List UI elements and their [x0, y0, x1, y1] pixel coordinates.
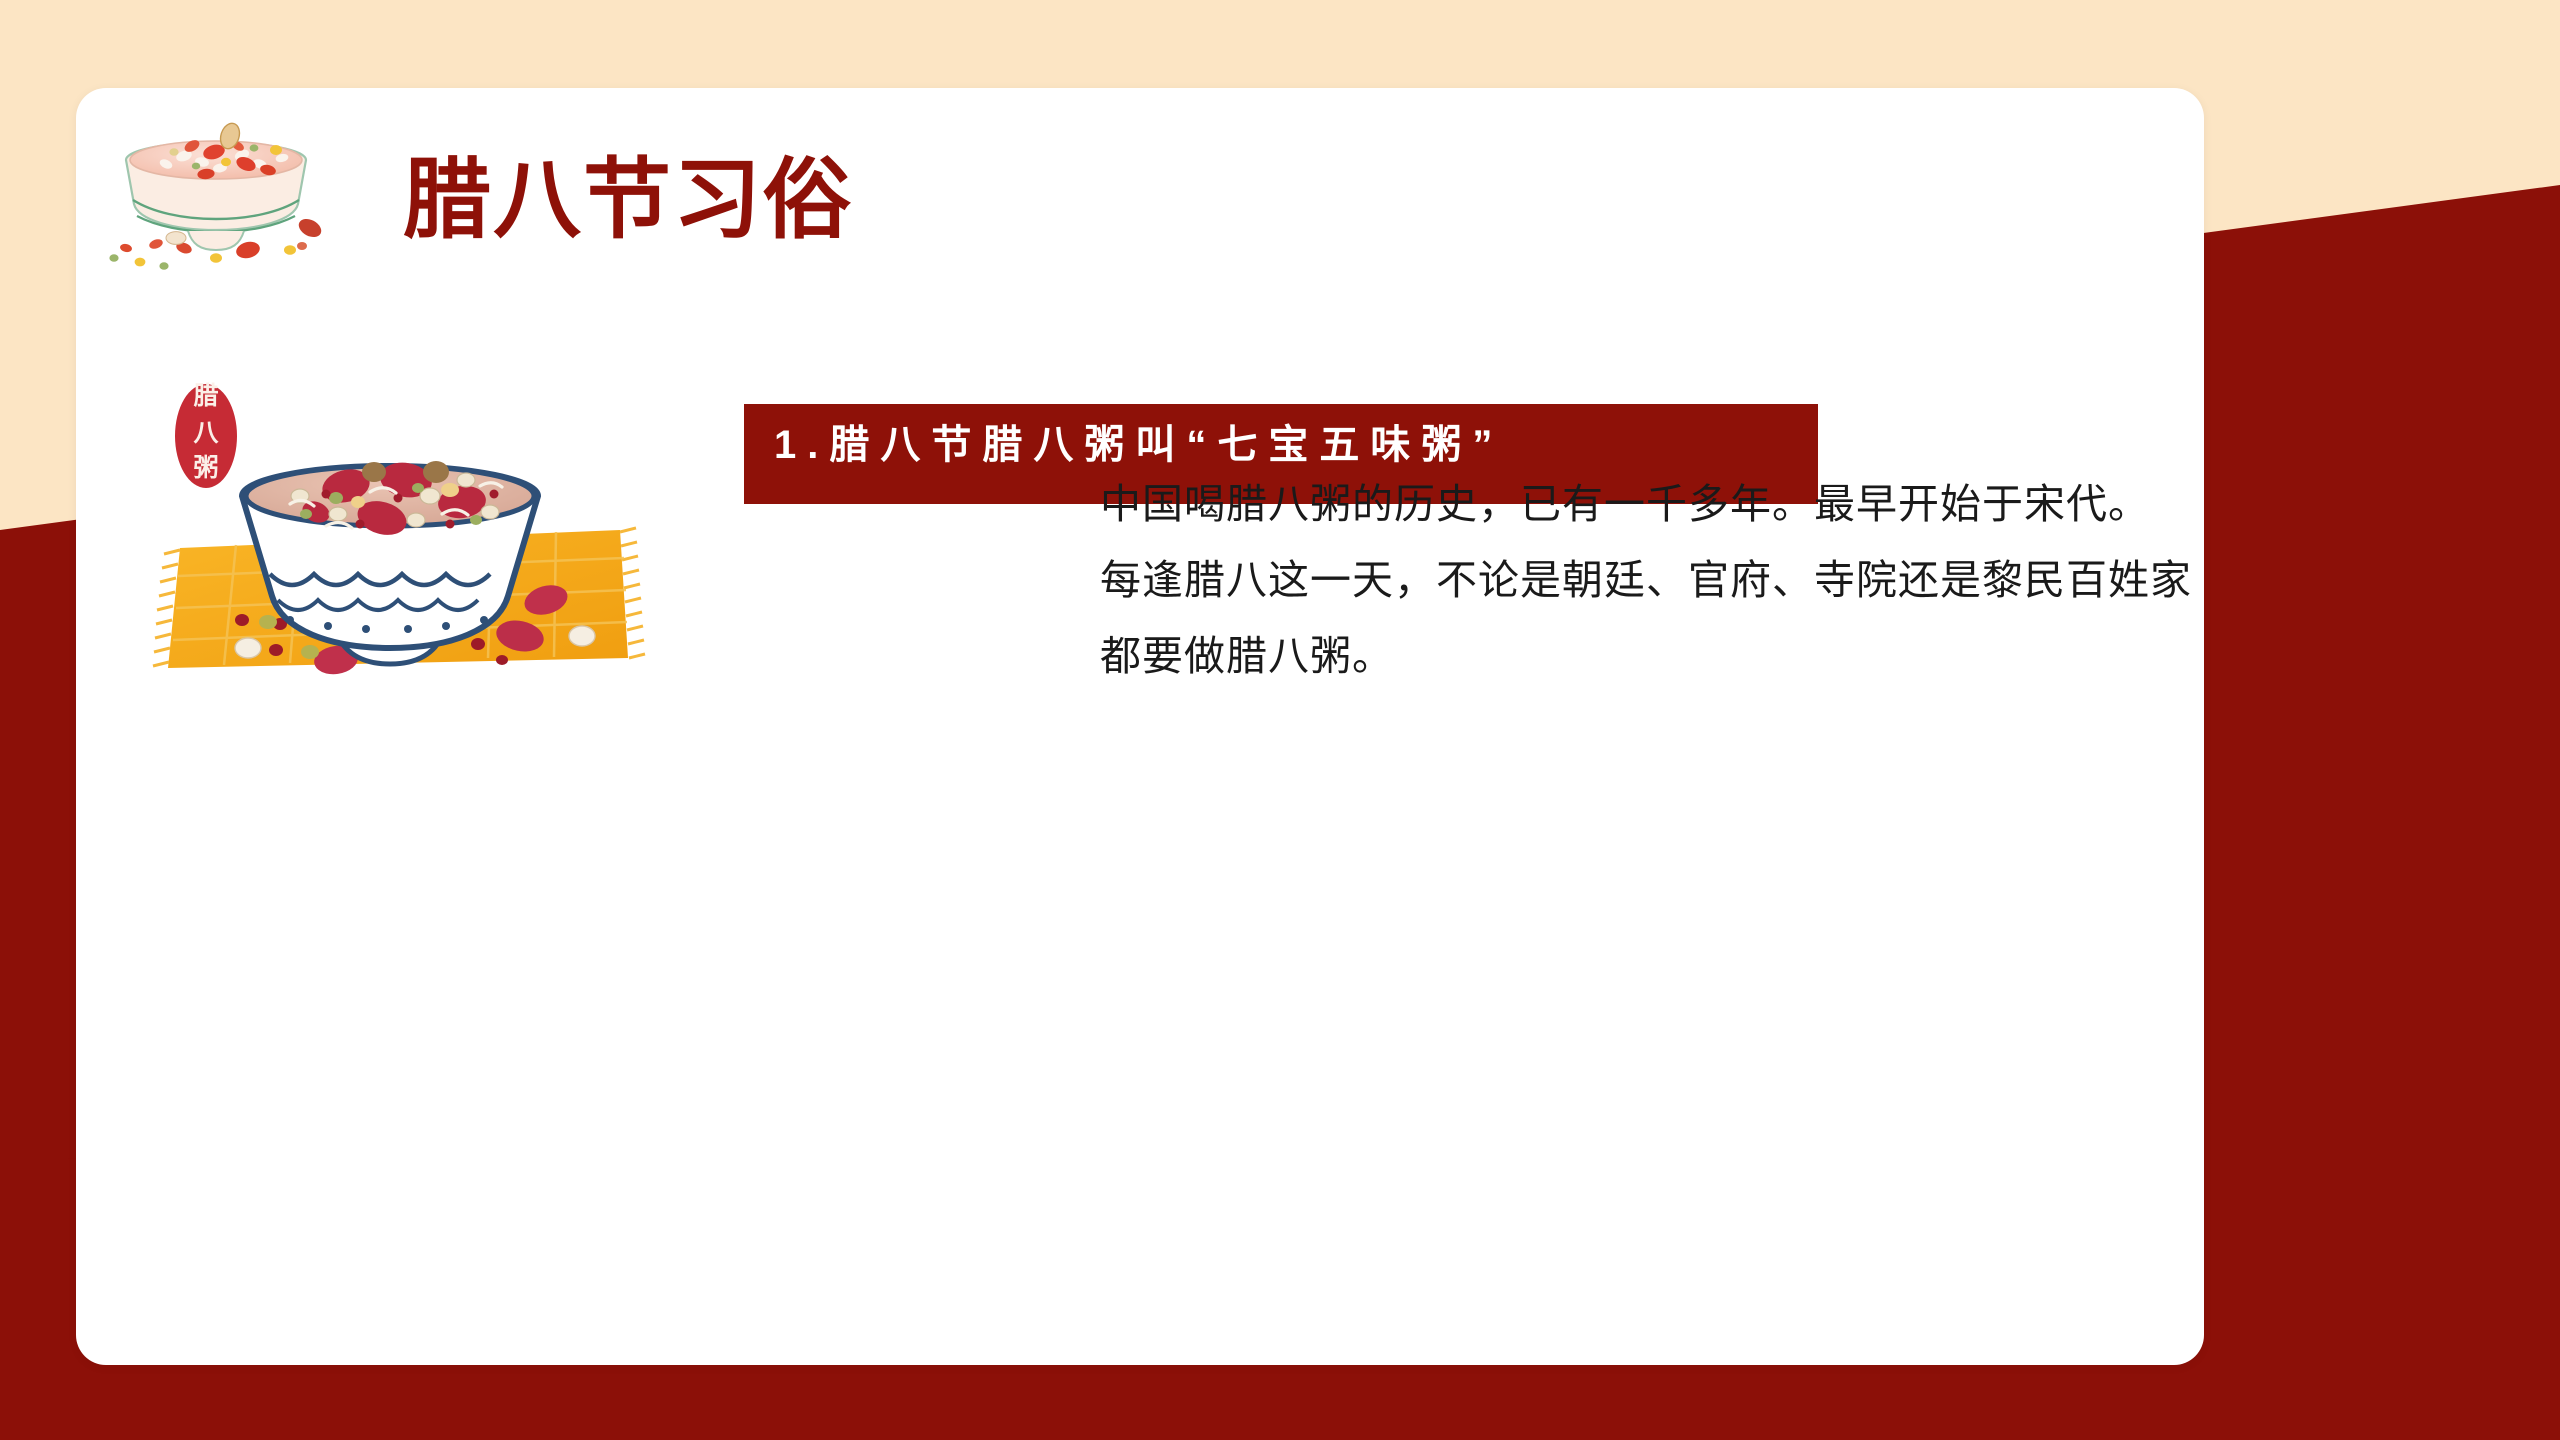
body-line-2: 每逢腊八这一天，不论是朝廷、官府、寺院还是黎民百姓家 — [1100, 542, 2110, 618]
laba-porridge-tag: 腊 八 粥 — [175, 382, 237, 488]
page-title: 腊八节习俗 — [403, 156, 853, 244]
slide-header: 腊八节习俗 — [76, 88, 2204, 288]
body-copy: 中国喝腊八粥的历史，已有一千多年。最早开始于宋代。 每逢腊八这一天，不论是朝廷、… — [1100, 466, 2110, 694]
tag-char-1: 腊 — [193, 382, 218, 410]
tag-char-2: 八 — [193, 419, 219, 447]
body-line-1: 中国喝腊八粥的历史，已有一千多年。最早开始于宋代。 — [1100, 466, 2110, 542]
tag-char-3: 粥 — [193, 454, 218, 482]
porridge-bowl-icon — [96, 98, 336, 278]
slide-card: 腊八节习俗 1.腊八节腊八粥叫“七宝五味粥” — [76, 88, 2204, 1365]
laba-porridge-illustration: 腊 八 粥 — [150, 368, 650, 688]
body-line-3: 都要做腊八粥。 — [1100, 618, 2110, 694]
